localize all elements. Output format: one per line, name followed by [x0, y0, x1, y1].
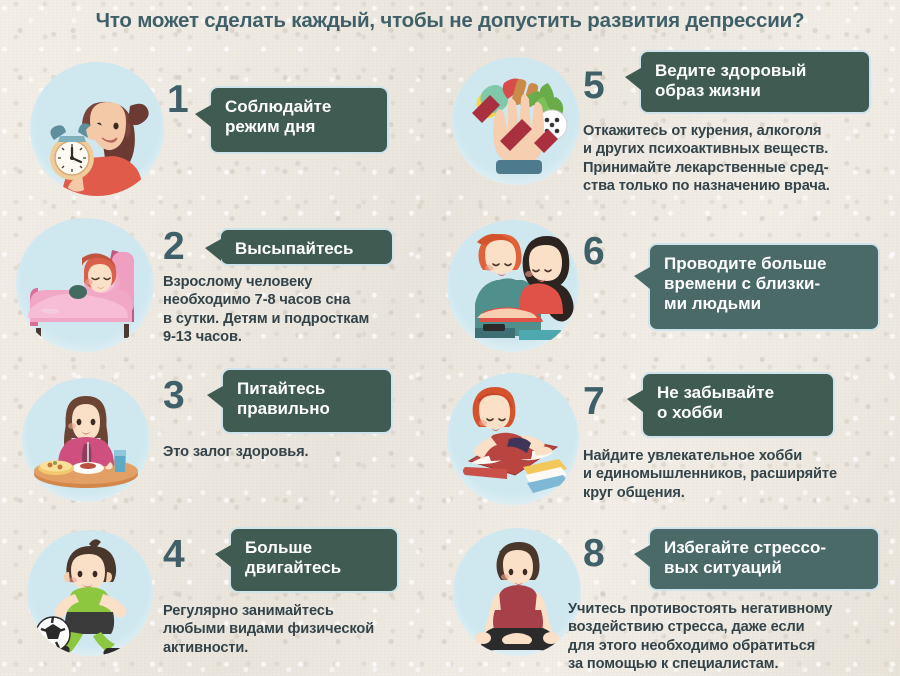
boy-playing-football-icon — [27, 530, 153, 656]
couple-embracing-icon — [447, 220, 579, 352]
tip-description-3: Это залог здоровья. — [163, 443, 463, 461]
tip-number-6: 6 — [583, 232, 605, 271]
tip-heading-5: Ведите здоровый образ жизни — [639, 50, 871, 114]
tip-heading-3: Питайтесь правильно — [221, 368, 393, 434]
hand-refusing-substances-icon — [452, 57, 580, 185]
tip-description-4: Регулярно занимайтесь любыми видами физи… — [163, 602, 463, 657]
person-meditating-icon — [453, 528, 581, 656]
page-title: Что может сделать каждый, чтобы не допус… — [0, 9, 900, 33]
tip-number-3: 3 — [163, 376, 185, 415]
tip-description-2: Взрослому человеку необходимо 7-8 часов … — [163, 273, 463, 347]
person-reading-books-icon — [447, 373, 579, 505]
tip-heading-6: Проводите больше времени с близки- ми лю… — [648, 243, 880, 331]
tip-number-8: 8 — [583, 534, 605, 573]
girl-eating-at-table-icon — [22, 378, 150, 502]
tip-heading-4: Больше двигайтесь — [229, 527, 399, 593]
tip-heading-8: Избегайте стрессо- вых ситуаций — [648, 527, 880, 591]
tip-description-5: Откажитесь от курения, алкоголя и других… — [583, 122, 900, 196]
tip-heading-7: Не забывайте о хобби — [641, 372, 835, 438]
man-with-alarm-clock-icon — [30, 62, 164, 196]
tip-number-4: 4 — [163, 535, 185, 574]
tip-description-8: Учитесь противостоять негативному воздей… — [568, 600, 900, 674]
tip-heading-1: Соблюдайте режим дня — [209, 86, 389, 154]
tip-number-5: 5 — [583, 66, 605, 105]
tip-number-7: 7 — [583, 382, 605, 421]
tip-number-2: 2 — [163, 227, 185, 266]
tip-number-1: 1 — [167, 80, 189, 119]
sleeping-person-in-bed-icon — [16, 218, 154, 352]
tip-description-7: Найдите увлекательное хобби и единомышле… — [583, 447, 900, 502]
tip-heading-2: Высыпайтесь — [219, 228, 394, 266]
